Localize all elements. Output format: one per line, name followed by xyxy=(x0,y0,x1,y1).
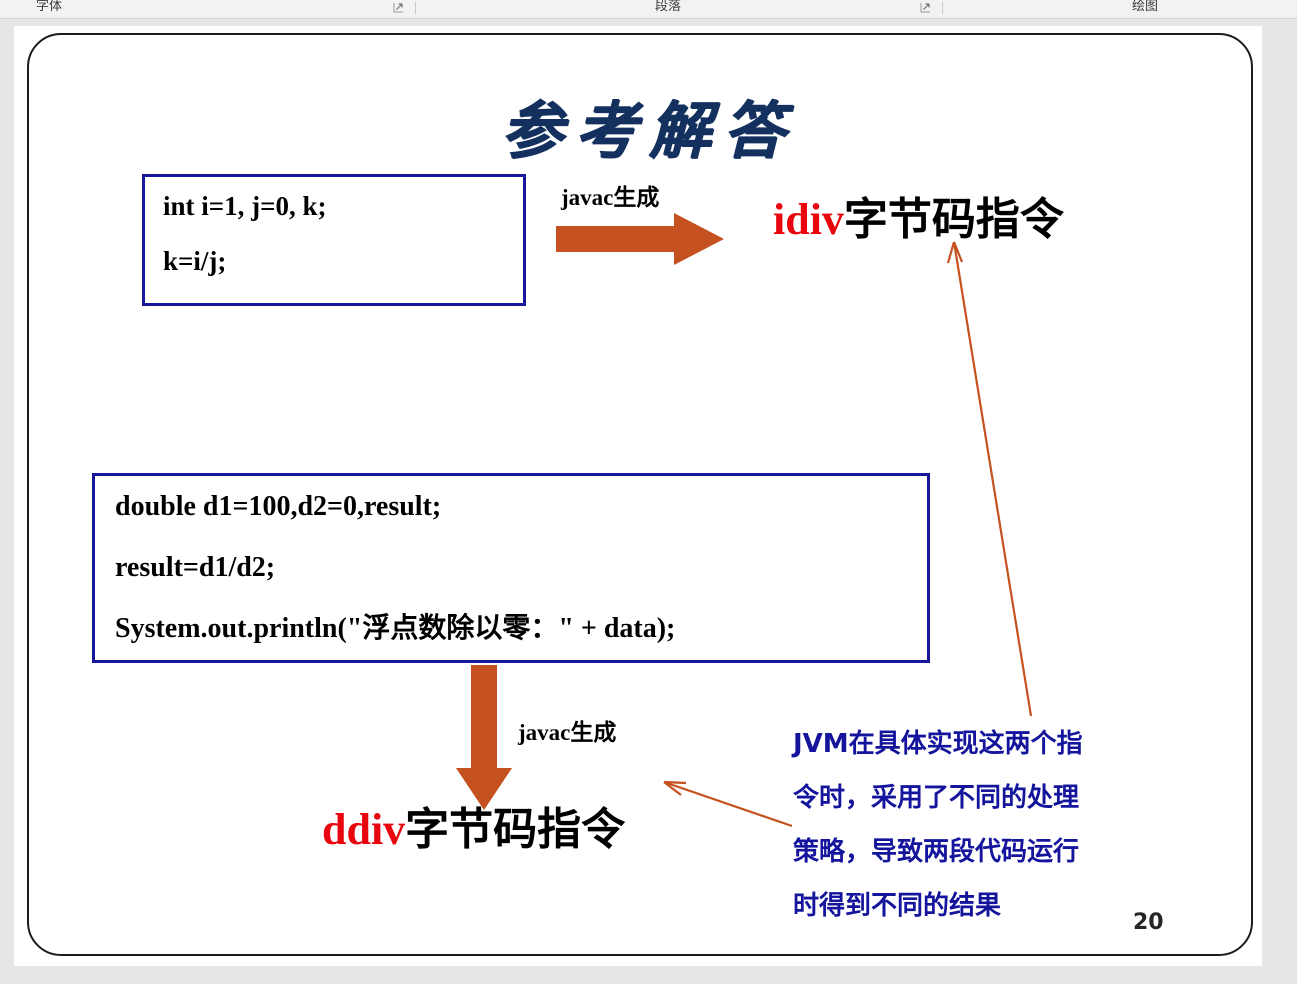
javac-label-down: javac生成 xyxy=(518,713,616,747)
code-line: System.out.println("浮点数除以零：" + data); xyxy=(115,615,927,643)
jvm-explanation-note: JVM在具体实现这两个指 令时，采用了不同的处理 策略，导致两段代码运行 时得到… xyxy=(793,717,1165,933)
bytecode-op-ddiv: ddiv xyxy=(322,805,405,854)
bytecode-heading-idiv: idiv字节码指令 xyxy=(773,183,1064,247)
note-line: 策略，导致两段代码运行 xyxy=(793,825,1165,879)
note-line: JVM在具体实现这两个指 xyxy=(793,717,1165,771)
bytecode-op-idiv: idiv xyxy=(773,195,844,244)
code-line: int i=1, j=0, k; xyxy=(163,193,523,220)
dialog-launcher-icon-paragraph[interactable] xyxy=(920,2,931,13)
ribbon-strip: 字体 段落 绘图 xyxy=(0,0,1297,19)
dialog-launcher-icon-font[interactable] xyxy=(393,2,404,13)
bytecode-heading-ddiv: ddiv字节码指令 xyxy=(322,793,625,857)
ribbon-separator-1 xyxy=(415,2,416,14)
block-arrow-right-icon xyxy=(556,213,724,265)
slide-title: 参考解答 xyxy=(0,80,1297,170)
slide-page-number: 20 xyxy=(1133,910,1164,935)
ribbon-group-label-paragraph: 段落 xyxy=(655,0,681,16)
code-box-int-division[interactable]: int i=1, j=0, k; k=i/j; xyxy=(142,174,526,306)
code-line: k=i/j; xyxy=(163,248,523,275)
code-line: result=d1/d2; xyxy=(115,554,927,582)
javac-label-right: javac生成 xyxy=(561,178,659,212)
note-line: 时得到不同的结果 xyxy=(793,879,1165,933)
ribbon-separator-2 xyxy=(942,2,943,14)
code-box-double-division[interactable]: double d1=100,d2=0,result; result=d1/d2;… xyxy=(92,473,930,663)
block-arrow-down-icon xyxy=(456,665,512,810)
note-line: 令时，采用了不同的处理 xyxy=(793,771,1165,825)
bytecode-text-ddiv: 字节码指令 xyxy=(405,805,625,854)
ribbon-group-label-font: 字体 xyxy=(36,0,62,16)
code-line: double d1=100,d2=0,result; xyxy=(115,493,927,521)
ribbon-group-label-drawing: 绘图 xyxy=(1132,0,1158,16)
bytecode-text-idiv: 字节码指令 xyxy=(844,195,1064,244)
